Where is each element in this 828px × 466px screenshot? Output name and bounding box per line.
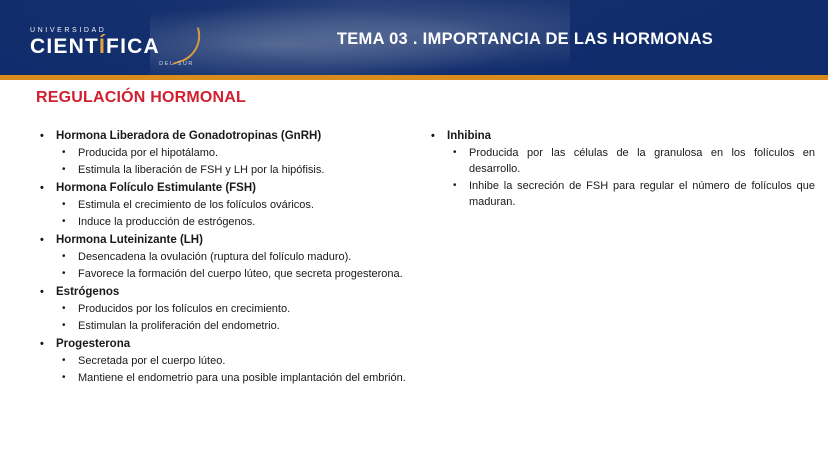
sub-item-text: Secretada por el cuerpo lúteo. bbox=[78, 353, 434, 369]
logo-sub-line: DEL SUR bbox=[159, 61, 194, 67]
sub-list: •Estimula el crecimiento de los folículo… bbox=[56, 197, 434, 230]
logo-name-part2: FICA bbox=[106, 35, 160, 58]
sub-item-text: Producida por el hipotálamo. bbox=[78, 145, 434, 161]
slide-header-title: TEMA 03 . IMPORTANCIA DE LAS HORMONAS bbox=[260, 30, 790, 49]
sub-list: •Secretada por el cuerpo lúteo. •Mantien… bbox=[56, 353, 434, 386]
bullet-icon: • bbox=[40, 180, 44, 196]
right-topic-list: • Inhibina •Producida por las células de… bbox=[425, 128, 815, 210]
bullet-icon: • bbox=[62, 266, 66, 282]
sub-item-text: Estimula el crecimiento de los folículos… bbox=[78, 197, 434, 213]
topic-title: Hormona Liberadora de Gonadotropinas (Gn… bbox=[56, 130, 321, 142]
slide-header: UNIVERSIDAD CIENTÍFICA DEL SUR TEMA 03 .… bbox=[0, 0, 828, 75]
topic-title: Estrógenos bbox=[56, 286, 119, 298]
bullet-icon: • bbox=[40, 336, 44, 352]
list-item: • Hormona Luteinizante (LH) •Desencadena… bbox=[34, 232, 434, 282]
bullet-icon: • bbox=[62, 214, 66, 230]
topic-title: Inhibina bbox=[447, 130, 491, 142]
sub-item-text: Estimula la liberación de FSH y LH por l… bbox=[78, 162, 434, 178]
content-column-right: • Inhibina •Producida por las células de… bbox=[425, 128, 815, 212]
sub-item-text: Producida por las células de la granulos… bbox=[469, 145, 815, 177]
bullet-icon: • bbox=[62, 301, 66, 317]
list-item: •Producida por las células de la granulo… bbox=[447, 145, 815, 177]
topic-title: Hormona Folículo Estimulante (FSH) bbox=[56, 182, 256, 194]
bullet-icon: • bbox=[40, 232, 44, 248]
sub-item-text: Favorece la formación del cuerpo lúteo, … bbox=[78, 266, 434, 282]
bullet-icon: • bbox=[40, 284, 44, 300]
list-item: •Estimula el crecimiento de los folículo… bbox=[56, 197, 434, 213]
topic-title: Progesterona bbox=[56, 338, 130, 350]
sub-item-text: Induce la producción de estrógenos. bbox=[78, 214, 434, 230]
logo-name-accent: Í bbox=[99, 35, 106, 58]
list-item: •Estimula la liberación de FSH y LH por … bbox=[56, 162, 434, 178]
bullet-icon: • bbox=[62, 162, 66, 178]
bullet-icon: • bbox=[40, 128, 44, 144]
topic-title: Hormona Luteinizante (LH) bbox=[56, 234, 203, 246]
page-title: REGULACIÓN HORMONAL bbox=[36, 89, 246, 107]
list-item: • Hormona Liberadora de Gonadotropinas (… bbox=[34, 128, 434, 178]
left-topic-list: • Hormona Liberadora de Gonadotropinas (… bbox=[34, 128, 434, 386]
bullet-icon: • bbox=[453, 145, 457, 161]
logo-name-part1: CIENT bbox=[30, 35, 99, 58]
sub-item-text: Estimulan la proliferación del endometri… bbox=[78, 318, 434, 334]
list-item: •Inhibe la secreción de FSH para regular… bbox=[447, 178, 815, 210]
list-item: •Estimulan la proliferación del endometr… bbox=[56, 318, 434, 334]
bullet-icon: • bbox=[62, 249, 66, 265]
sub-list: •Producida por las células de la granulo… bbox=[447, 145, 815, 210]
bullet-icon: • bbox=[62, 145, 66, 161]
list-item: •Favorece la formación del cuerpo lúteo,… bbox=[56, 266, 434, 282]
bullet-icon: • bbox=[62, 197, 66, 213]
list-item: • Inhibina •Producida por las células de… bbox=[425, 128, 815, 210]
header-accent-bar bbox=[0, 75, 828, 80]
list-item: • Hormona Folículo Estimulante (FSH) •Es… bbox=[34, 180, 434, 230]
bullet-icon: • bbox=[62, 318, 66, 334]
list-item: •Induce la producción de estrógenos. bbox=[56, 214, 434, 230]
list-item: • Estrógenos •Producidos por los folícul… bbox=[34, 284, 434, 334]
bullet-icon: • bbox=[62, 370, 66, 386]
logo-top-line: UNIVERSIDAD bbox=[30, 26, 200, 35]
list-item: •Secretada por el cuerpo lúteo. bbox=[56, 353, 434, 369]
sub-list: •Producida por el hipotálamo. •Estimula … bbox=[56, 145, 434, 178]
content-column-left: • Hormona Liberadora de Gonadotropinas (… bbox=[34, 128, 434, 388]
sub-list: •Producidos por los folículos en crecimi… bbox=[56, 301, 434, 334]
bullet-icon: • bbox=[453, 178, 457, 194]
slide: UNIVERSIDAD CIENTÍFICA DEL SUR TEMA 03 .… bbox=[0, 0, 828, 466]
bullet-icon: • bbox=[62, 353, 66, 369]
university-logo: UNIVERSIDAD CIENTÍFICA DEL SUR bbox=[30, 26, 200, 60]
list-item: •Producidos por los folículos en crecimi… bbox=[56, 301, 434, 317]
sub-item-text: Desencadena la ovulación (ruptura del fo… bbox=[78, 249, 434, 265]
sub-list: •Desencadena la ovulación (ruptura del f… bbox=[56, 249, 434, 282]
sub-item-text: Producidos por los folículos en crecimie… bbox=[78, 301, 434, 317]
sub-item-text: Inhibe la secreción de FSH para regular … bbox=[469, 178, 815, 210]
list-item: • Progesterona •Secretada por el cuerpo … bbox=[34, 336, 434, 386]
list-item: •Mantiene el endometrio para una posible… bbox=[56, 370, 434, 386]
bullet-icon: • bbox=[431, 128, 435, 144]
list-item: •Producida por el hipotálamo. bbox=[56, 145, 434, 161]
list-item: •Desencadena la ovulación (ruptura del f… bbox=[56, 249, 434, 265]
sub-item-text: Mantiene el endometrio para una posible … bbox=[78, 370, 434, 386]
